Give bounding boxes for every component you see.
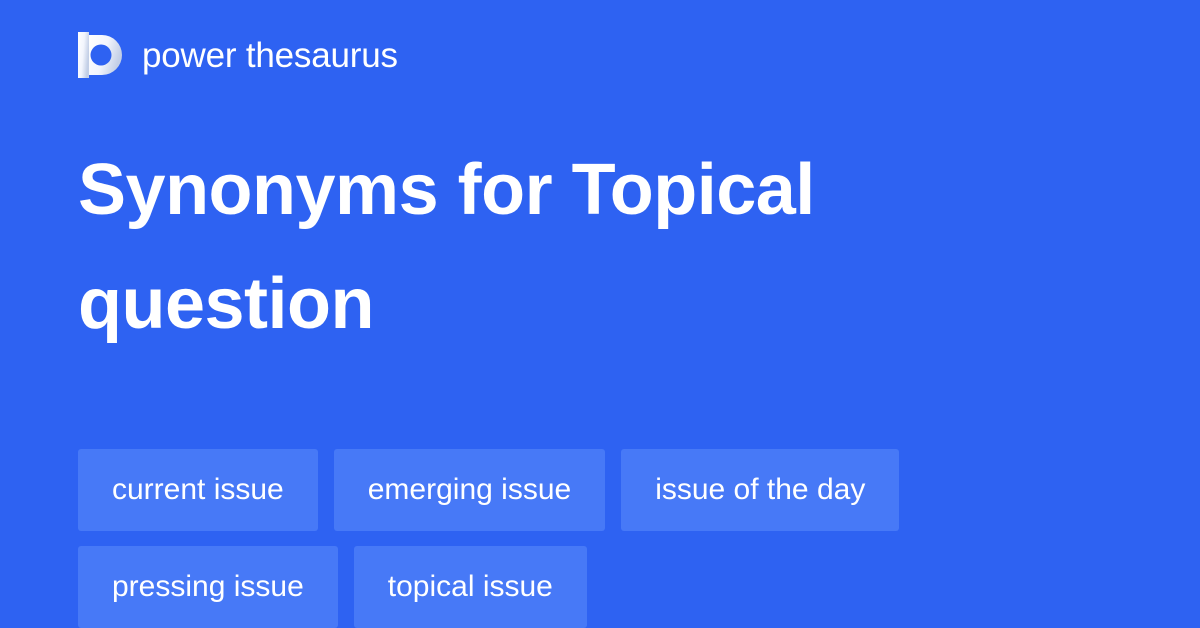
page-title-line-1: Synonyms for Topical [78, 133, 1058, 247]
synonym-chip[interactable]: issue of the day [621, 449, 899, 531]
social-share-card: power thesaurus Synonyms for Topical que… [0, 0, 1200, 628]
synonym-chip[interactable]: emerging issue [334, 449, 605, 531]
page-title: Synonyms for Topical question [78, 133, 1058, 361]
power-thesaurus-b-mark-icon [78, 32, 124, 78]
page-title-line-2: question [78, 247, 1058, 361]
brand-name: power thesaurus [142, 38, 398, 73]
synonym-chip[interactable]: topical issue [354, 546, 587, 628]
synonym-chip[interactable]: current issue [78, 449, 318, 531]
synonym-chip-list: current issue emerging issue issue of th… [78, 449, 1058, 628]
brand-logo[interactable]: power thesaurus [78, 30, 1122, 81]
synonym-chip[interactable]: pressing issue [78, 546, 338, 628]
